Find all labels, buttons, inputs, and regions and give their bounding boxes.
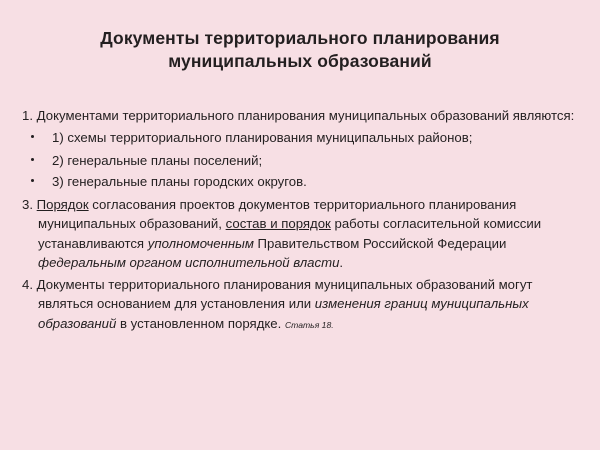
bullet-icon [31,135,34,138]
slide: Документы территориального планирования … [0,0,600,450]
link-sostav-i-poryadok[interactable]: состав и порядок [226,216,331,231]
item-text: в установленном порядке. [116,316,285,331]
item-text: 3) генеральные планы городских округов. [52,174,307,189]
item-text: 1) схемы территориального планирования м… [52,130,472,145]
item-text: 1. Документами территориального планиров… [22,108,574,123]
item-text-italic: уполномоченным [148,236,254,251]
list-item: 1. Документами территориального планиров… [22,106,580,125]
item-text: . [339,255,343,270]
article-reference: Статья 18. [285,320,334,330]
list-item: 2) генеральные планы поселений; [22,151,580,170]
page-title: Документы территориального планирования … [30,27,570,73]
item-text: 2) генеральные планы поселений; [52,153,262,168]
item-text: Правительством Российской Федерации [254,236,507,251]
link-poryadok[interactable]: Порядок [37,197,89,212]
item-text-prefix: 3. [22,197,37,212]
item-text-italic: федеральным органом исполнительной власт… [38,255,339,270]
bullet-icon [31,158,34,161]
title-line-2: муниципальных образований [30,50,570,73]
body-content: 1. Документами территориального планиров… [22,106,580,334]
list-item: 3) генеральные планы городских округов. [22,172,580,191]
bullet-icon [31,179,34,182]
list-item: 4. Документы территориального планирован… [22,275,580,333]
list-item: 1) схемы территориального планирования м… [22,128,580,147]
title-line-1: Документы территориального планирования [30,27,570,50]
list-item: 3. Порядок согласования проектов докумен… [22,195,580,272]
